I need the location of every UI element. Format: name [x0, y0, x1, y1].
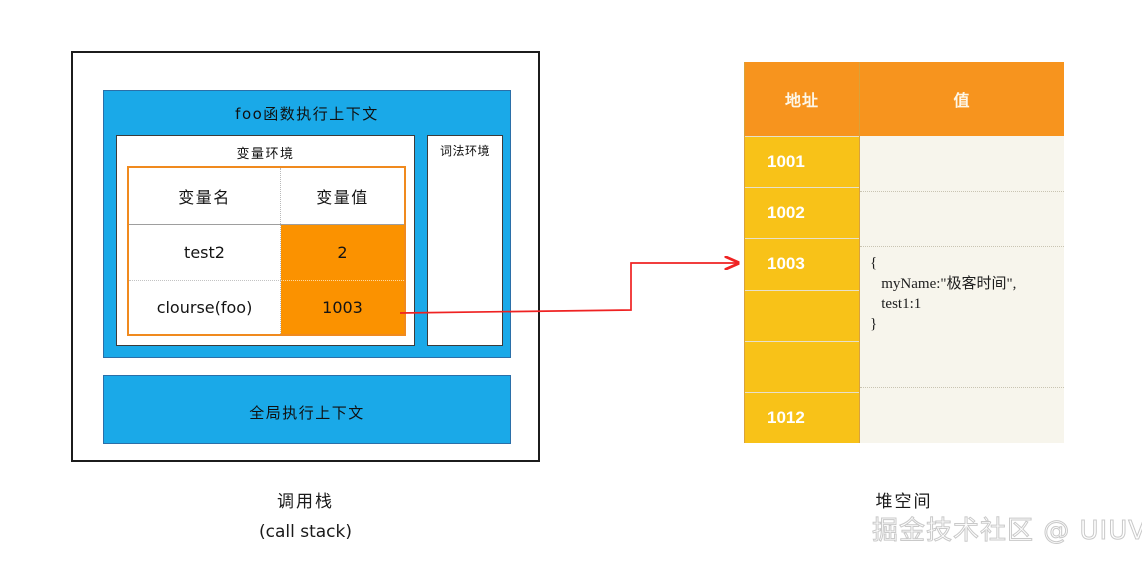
heap-address-cell [745, 290, 859, 341]
call-stack-caption-cn: 调用栈 [71, 487, 540, 517]
foo-execution-context-title: foo函数执行上下文 [104, 103, 510, 124]
variable-name-cell: test2 [129, 225, 281, 280]
heap-value-column: 值 { myName:"极客时间", test1:1 } [859, 62, 1064, 443]
heap-value-cell-object: { myName:"极客时间", test1:1 } [860, 246, 1064, 387]
variable-name-cell: clourse(foo) [129, 280, 281, 335]
table-row: clourse(foo) 1003 [129, 280, 404, 335]
column-header-value: 值 [860, 62, 1064, 136]
column-header-variable-name: 变量名 [129, 168, 281, 224]
heap-address-cell: 1012 [745, 392, 859, 443]
foo-execution-context-box: foo函数执行上下文 变量环境 变量名 变量值 test2 2 clourse(… [103, 90, 511, 358]
heap-address-column: 地址 1001 1002 1003 1012 [745, 62, 859, 443]
heap-address-cell [745, 341, 859, 392]
variable-environment-panel: 变量环境 变量名 变量值 test2 2 clourse(foo) 1003 [116, 135, 415, 346]
variable-environment-table: 变量名 变量值 test2 2 clourse(foo) 1003 [127, 166, 406, 336]
variable-value-cell: 1003 [281, 280, 404, 335]
watermark-text: 掘金技术社区 @ UIUV [872, 510, 1142, 547]
call-stack-caption-en: (call stack) [71, 517, 540, 547]
table-header-row: 变量名 变量值 [129, 168, 404, 225]
heap-memory-table: 地址 1001 1002 1003 1012 值 { myName:"极客时间"… [744, 62, 1064, 443]
lexical-environment-title: 词法环境 [428, 142, 502, 159]
heap-address-cell: 1001 [745, 136, 859, 187]
heap-address-cell: 1002 [745, 187, 859, 238]
column-header-address: 地址 [745, 62, 859, 136]
heap-value-cell [860, 136, 1064, 191]
variable-environment-title: 变量环境 [117, 143, 414, 162]
column-header-variable-value: 变量值 [281, 168, 404, 224]
heap-address-cell: 1003 [745, 238, 859, 289]
variable-value-cell: 2 [281, 225, 404, 280]
table-row: test2 2 [129, 225, 404, 280]
global-execution-context-box: 全局执行上下文 [103, 375, 511, 444]
lexical-environment-panel: 词法环境 [427, 135, 503, 346]
global-execution-context-title: 全局执行上下文 [104, 402, 510, 423]
heap-value-cell [860, 191, 1064, 247]
heap-value-cell [860, 387, 1064, 443]
call-stack-caption: 调用栈 (call stack) [71, 487, 540, 547]
call-stack-panel: foo函数执行上下文 变量环境 变量名 变量值 test2 2 clourse(… [71, 51, 540, 462]
heap-caption: 堆空间 [744, 487, 1064, 512]
